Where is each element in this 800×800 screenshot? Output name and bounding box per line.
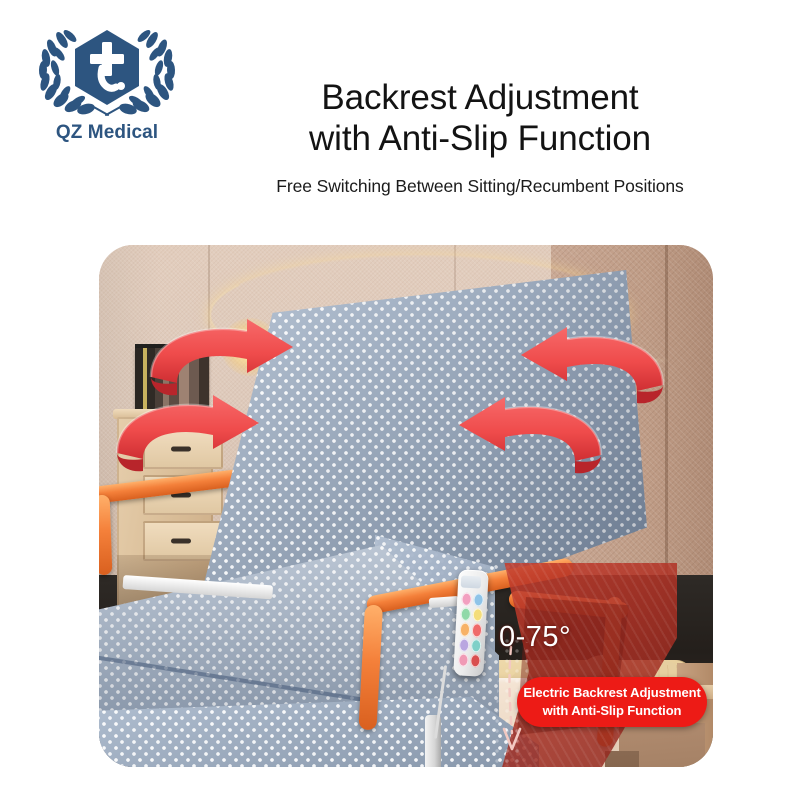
remote-screen [461,575,482,588]
curved-arrow-right-icon [109,393,289,483]
remote-holder-clip [429,596,460,608]
remote-key[interactable] [470,654,481,668]
bed-foot-board-inner [605,751,639,767]
remote-key[interactable] [460,623,471,637]
remote-key[interactable] [473,593,484,607]
remote-key[interactable] [472,608,483,622]
remote-key[interactable] [458,653,469,667]
page-title: Backrest Adjustment with Anti-Slip Funct… [190,78,770,160]
feature-badge-line-1: Electric Backrest Adjustment [523,684,700,702]
page-subtitle: Free Switching Between Sitting/Recumbent… [190,176,770,197]
title-line-2: with Anti-Slip Function [190,119,770,160]
product-photo: 0-75° Electric Backrest Adjustment with … [99,245,713,767]
curved-arrow-left-icon [429,395,609,485]
remote-key[interactable] [459,638,470,652]
remote-key[interactable] [472,623,483,637]
feature-badge-line-2: with Anti-Slip Function [543,702,682,720]
remote-keypad[interactable] [457,591,485,668]
header: QZ Medical Backrest Adjustment with Anti… [0,0,800,240]
remote-key[interactable] [471,639,482,653]
angle-range-label: 0-75° [499,621,649,654]
brand-wordmark: QZ Medical [22,122,192,144]
remote-key[interactable] [461,592,472,606]
brand-logo: QZ Medical [22,22,192,150]
title-line-1: Backrest Adjustment [190,78,770,119]
feature-badge: Electric Backrest Adjustment with Anti-S… [517,677,707,727]
remote-key[interactable] [460,608,471,622]
medical-hexagon-laurel-logo [22,22,192,122]
